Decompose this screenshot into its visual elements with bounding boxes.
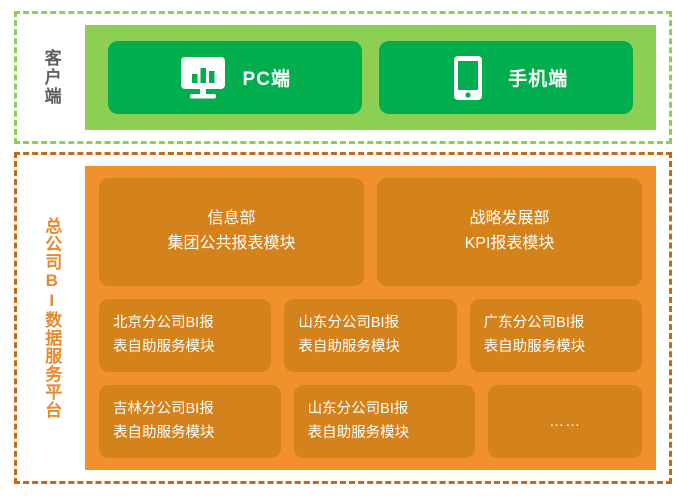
client-section: 客户端 PC端: [14, 11, 672, 144]
platform-section-label: 总公司BI数据服务平台: [17, 155, 85, 481]
platform-panel: 信息部 集团公共报表模块 战略发展部 KPI报表模块 北京分公司BI报 表自: [85, 166, 656, 470]
module-card-more-label: ……: [549, 413, 581, 430]
module-card-branch-jilin-line2: 表自助服务模块: [113, 422, 215, 445]
platform-section: 总公司BI数据服务平台 信息部 集团公共报表模块 战略发展部 KPI报表模块: [14, 152, 672, 484]
mobile-phone-icon: [444, 54, 492, 102]
module-card-strategy-dept-line2: KPI报表模块: [465, 232, 555, 257]
module-card-strategy-dept[interactable]: 战略发展部 KPI报表模块: [377, 178, 642, 286]
module-card-branch-shandong-1[interactable]: 山东分公司BI报 表自助服务模块: [284, 299, 456, 372]
module-card-info-dept[interactable]: 信息部 集团公共报表模块: [99, 178, 364, 286]
module-card-strategy-dept-line1: 战略发展部: [469, 210, 549, 227]
module-row-branches-1: 北京分公司BI报 表自助服务模块 山东分公司BI报 表自助服务模块 广东分公司B…: [99, 299, 642, 372]
module-card-branch-beijing-line2: 表自助服务模块: [113, 336, 215, 359]
module-card-branch-guangdong-line2: 表自助服务模块: [484, 336, 586, 359]
module-row-departments: 信息部 集团公共报表模块 战略发展部 KPI报表模块: [99, 178, 642, 286]
module-row-branches-2: 吉林分公司BI报 表自助服务模块 山东分公司BI报 表自助服务模块 ……: [99, 385, 642, 458]
module-card-branch-beijing[interactable]: 北京分公司BI报 表自助服务模块: [99, 299, 271, 372]
module-card-branch-beijing-line1: 北京分公司BI报: [113, 315, 214, 331]
module-card-branch-shandong-1-line2: 表自助服务模块: [298, 336, 400, 359]
module-card-branch-jilin[interactable]: 吉林分公司BI报 表自助服务模块: [99, 385, 281, 458]
module-card-branch-jilin-line1: 吉林分公司BI报: [113, 401, 214, 417]
module-card-branch-shandong-2[interactable]: 山东分公司BI报 表自助服务模块: [294, 385, 476, 458]
client-section-label: 客户端: [17, 14, 85, 141]
module-card-branch-guangdong-line1: 广东分公司BI报: [484, 315, 585, 331]
module-card-branch-shandong-2-line2: 表自助服务模块: [308, 422, 410, 445]
client-card-pc[interactable]: PC端: [108, 41, 362, 114]
diagram-canvas: 客户端 PC端: [0, 0, 696, 498]
module-card-info-dept-line2: 集团公共报表模块: [167, 232, 295, 257]
module-card-branch-shandong-1-line1: 山东分公司BI报: [298, 315, 399, 331]
client-card-mobile[interactable]: 手机端: [379, 41, 633, 114]
client-panel: PC端 手机端: [85, 25, 656, 130]
module-card-branch-shandong-2-line1: 山东分公司BI报: [308, 401, 409, 417]
module-card-info-dept-line1: 信息部: [207, 210, 255, 227]
desktop-monitor-chart-icon: [179, 54, 227, 102]
module-card-branch-guangdong[interactable]: 广东分公司BI报 表自助服务模块: [470, 299, 642, 372]
client-card-mobile-label: 手机端: [508, 64, 568, 91]
module-card-more[interactable]: ……: [488, 385, 642, 458]
client-card-pc-label: PC端: [243, 64, 291, 91]
